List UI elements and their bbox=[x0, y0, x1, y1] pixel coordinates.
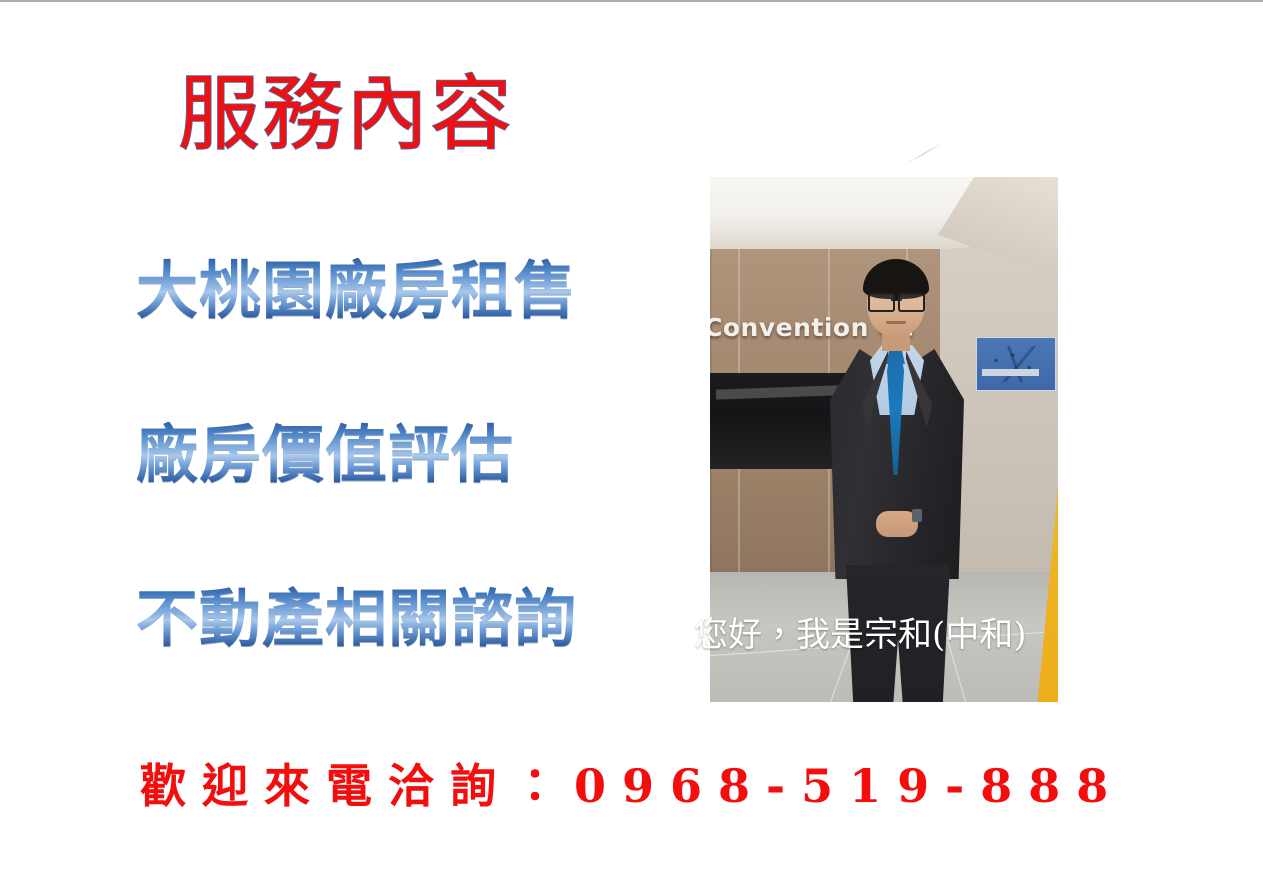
photo-caption: 您好，我是宗和(中和) bbox=[694, 617, 1027, 654]
wall-poster bbox=[976, 337, 1056, 391]
service-item-1: 大桃園廠房租售 bbox=[136, 258, 577, 323]
slide-canvas: 服務內容 大桃園廠房租售 廠房價值評估 不動產相關諮詢 Convention C… bbox=[0, 0, 1263, 891]
poster-label-bar bbox=[982, 369, 1039, 376]
phone-number: 0968-519-888 bbox=[574, 759, 1124, 813]
lens-left bbox=[868, 293, 895, 312]
service-item-2: 廠房價值評估 bbox=[136, 422, 514, 487]
poster-artwork bbox=[983, 346, 1049, 382]
light-flare-artifact bbox=[905, 142, 945, 164]
lens-right bbox=[898, 293, 925, 312]
agent-photo: Convention Ce bbox=[710, 177, 1058, 702]
eyeglasses bbox=[868, 293, 925, 308]
wristwatch bbox=[912, 509, 922, 522]
contact-line: 歡迎來電洽詢：0968-519-888 bbox=[140, 750, 1124, 816]
contact-prefix: 歡迎來電洽詢： bbox=[140, 759, 574, 813]
page-title: 服務內容 bbox=[178, 72, 514, 158]
mouth bbox=[886, 321, 906, 324]
service-item-3: 不動產相關諮詢 bbox=[136, 586, 577, 651]
